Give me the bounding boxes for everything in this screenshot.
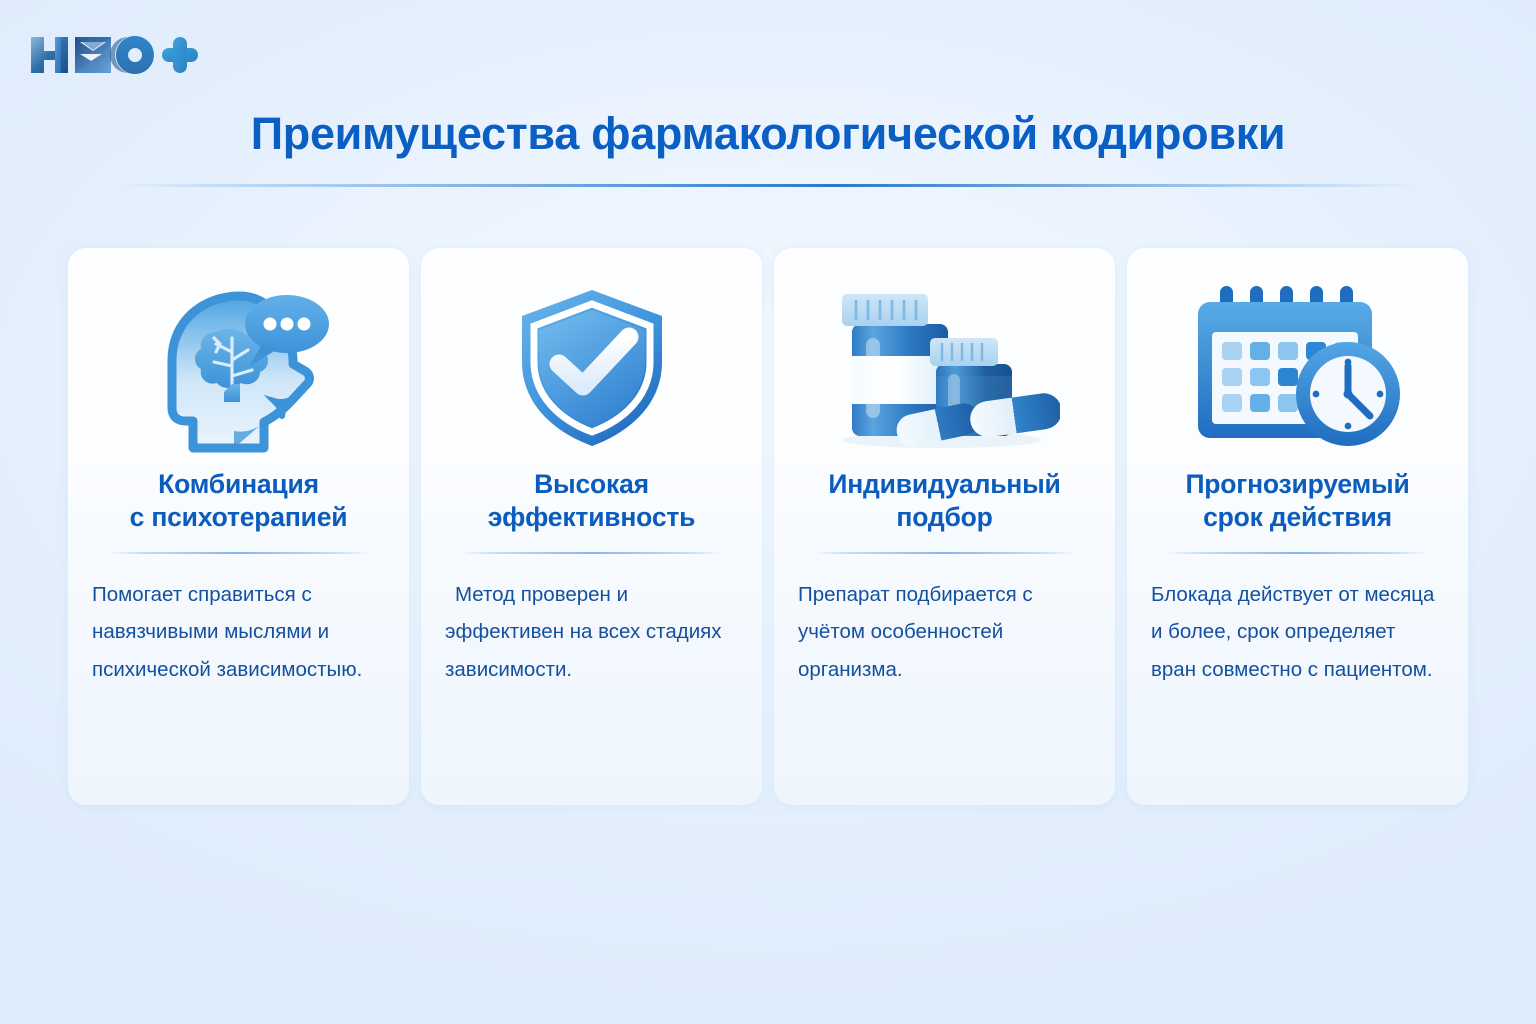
card-body-text: Метод проверен и эффективен на всех стад…: [439, 576, 744, 688]
shield-check-icon: [439, 274, 744, 462]
card-title-line-2: подбор: [896, 502, 992, 532]
card-title-line-1: Высокая: [534, 469, 649, 499]
head-brain-speech-bubble-icon: [86, 274, 391, 462]
card-title-line-2: срок действия: [1203, 502, 1392, 532]
benefit-card-high-effectiveness[interactable]: Высокая эффективность Метод проверен и э…: [421, 248, 762, 805]
card-body-text: Препарат подбирается с учётом особенност…: [792, 576, 1097, 688]
pill-bottles-capsules-icon: [792, 274, 1097, 462]
page-title: Преимущества фармакологической кодировки: [0, 108, 1536, 160]
card-divider: [813, 552, 1075, 554]
card-body-text: Блокада действует от месяца и более, сро…: [1145, 576, 1450, 688]
neo-plus-logo-icon: [22, 24, 202, 86]
card-divider: [460, 552, 722, 554]
card-title: Высокая эффективность: [488, 468, 695, 538]
benefits-card-row: Комбинация с психотерапией Помогает спра…: [68, 248, 1468, 805]
title-divider: [118, 184, 1418, 187]
card-body-text: Помогает справиться с навязчивыми мыслям…: [86, 576, 391, 688]
benefit-card-combination-psychotherapy[interactable]: Комбинация с психотерапией Помогает спра…: [68, 248, 409, 805]
card-title-line-2: с психотерапией: [130, 502, 348, 532]
benefit-card-individual-selection[interactable]: Индивидуальный подбор Препарат подбирает…: [774, 248, 1115, 805]
card-title: Комбинация с психотерапией: [130, 468, 348, 538]
card-title-line-1: Индивидуальный: [828, 469, 1060, 499]
benefit-card-predictable-duration[interactable]: Прогнозируемый срок действия Блокада дей…: [1127, 248, 1468, 805]
card-divider: [1166, 552, 1428, 554]
card-title: Индивидуальный подбор: [828, 468, 1060, 538]
card-title-line-1: Комбинация: [158, 469, 319, 499]
brand-logo: НЕО+: [22, 24, 202, 86]
calendar-clock-icon: [1145, 274, 1450, 462]
infographic-canvas: НЕО+ Преимущества фармакологической коди…: [0, 0, 1536, 1024]
card-title: Прогнозируемый срок действия: [1185, 468, 1409, 538]
card-title-line-1: Прогнозируемый: [1185, 469, 1409, 499]
card-divider: [107, 552, 369, 554]
card-title-line-2: эффективность: [488, 502, 695, 532]
